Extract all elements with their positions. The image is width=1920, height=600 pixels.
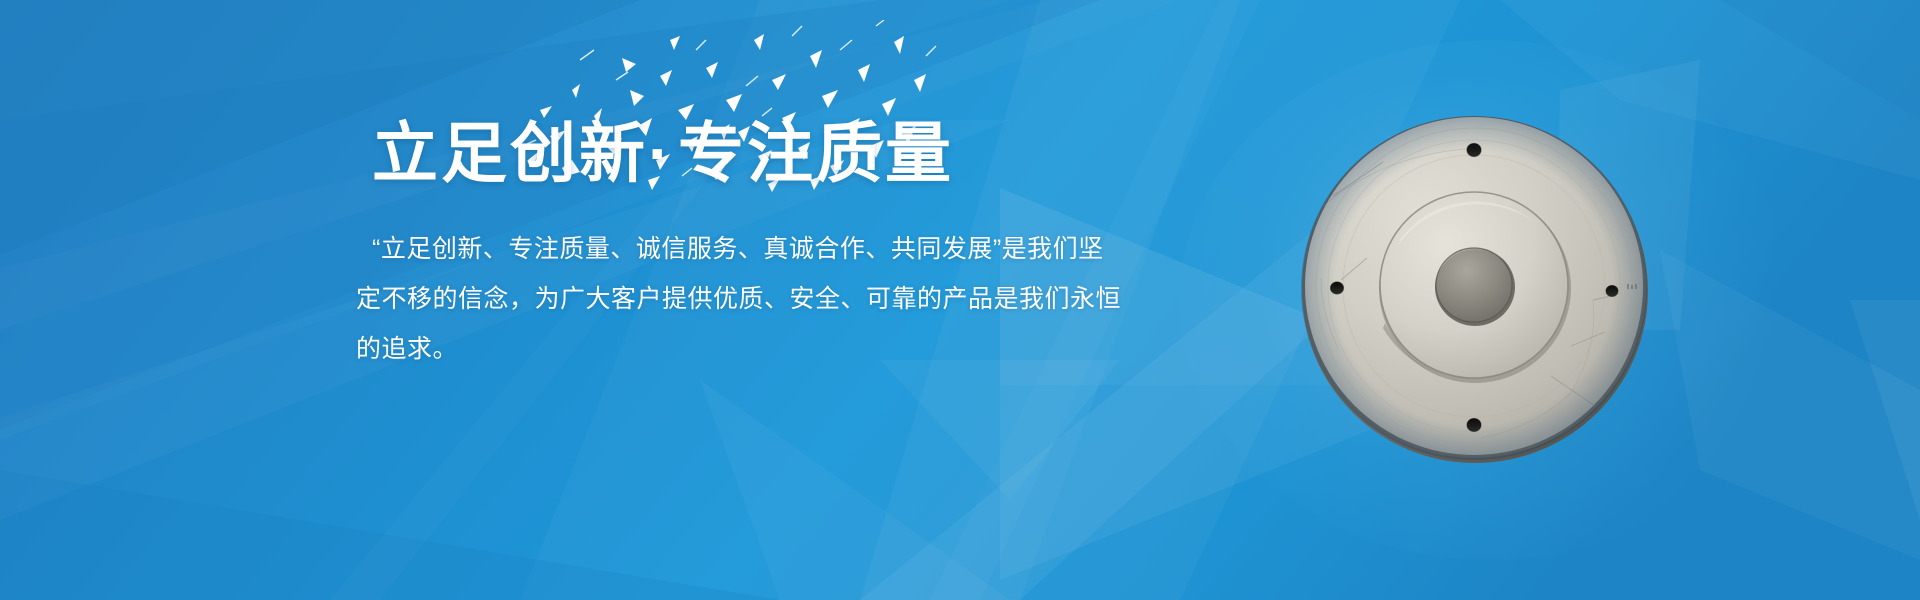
banner-headline: 立足创新·专注质量 bbox=[372, 120, 1192, 186]
banner-text-block: 立足创新·专注质量 “立足创新、专注质量、诚信服务、真诚合作、共同发展”是我们坚… bbox=[372, 120, 1192, 374]
headline-part-right: 专注质量 bbox=[678, 116, 954, 190]
headline-part-left: 立足创新 bbox=[372, 116, 648, 190]
product-flange-image bbox=[1275, 88, 1675, 488]
paragraph-line-1: “立足创新、专注质量、诚信服务、真诚合作、共同发展”是我们坚 bbox=[372, 224, 1162, 274]
paragraph-line-3: 的追求。 bbox=[356, 324, 1162, 374]
paragraph-line-2: 定不移的信念，为广大客户提供优质、安全、可靠的产品是我们永恒 bbox=[356, 274, 1162, 324]
hero-banner: 立足创新·专注质量 “立足创新、专注质量、诚信服务、真诚合作、共同发展”是我们坚… bbox=[0, 0, 1920, 600]
banner-paragraph: “立足创新、专注质量、诚信服务、真诚合作、共同发展”是我们坚 定不移的信念，为广… bbox=[372, 186, 1162, 374]
headline-separator: · bbox=[648, 120, 678, 186]
